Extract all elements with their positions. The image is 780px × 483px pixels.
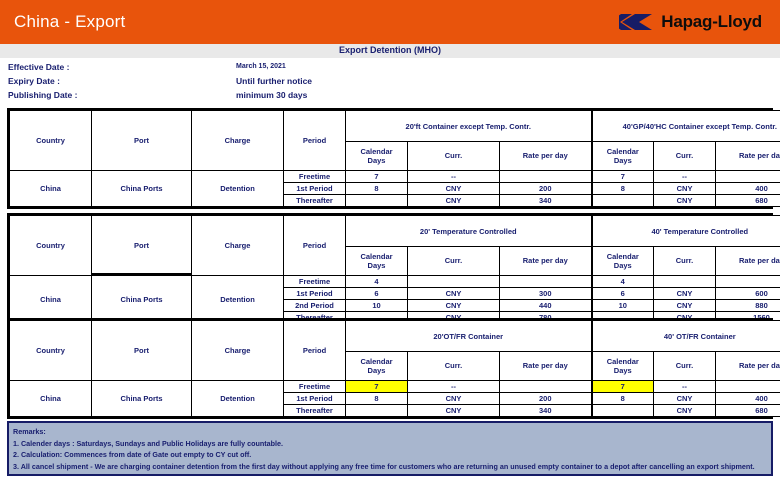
curr-cell-a: CNY: [408, 405, 500, 417]
calendar-days-header-a: CalendarDays: [346, 142, 408, 171]
country-cell: China: [10, 276, 92, 324]
period-header: Period: [284, 111, 346, 171]
curr-cell-a: CNY: [408, 195, 500, 207]
remark-item-3: 3. All cancel shipment - We are charging…: [13, 461, 767, 473]
calendar-days-cell-a: [346, 195, 408, 207]
container-group-a-header: 20'OT/FR Container: [346, 321, 592, 352]
calendar-days-cell-b: [592, 405, 654, 417]
calendar-days-header-b: CalendarDays: [592, 247, 654, 276]
remarks-heading: Remarks:: [13, 426, 767, 438]
curr-header-a: Curr.: [408, 142, 500, 171]
period-cell: Thereafter: [284, 405, 346, 417]
calendar-days-cell-a: 8: [346, 183, 408, 195]
rate-cell-b: 880: [716, 300, 780, 312]
calendar-days-cell-a: 10: [346, 300, 408, 312]
country-cell: China: [10, 171, 92, 207]
curr-cell-a: --: [408, 171, 500, 183]
curr-header-b: Curr.: [654, 142, 716, 171]
double-chevron-left-icon: [619, 13, 653, 31]
table-temperature-controlled: CountryPortChargePeriod20' Temperature C…: [7, 213, 773, 326]
container-group-b-header: 40'GP/40'HC Container except Temp. Contr…: [592, 111, 780, 142]
rate-cell-a: 200: [500, 393, 592, 405]
rate-cell-b: [716, 276, 780, 288]
port-cell: China Ports: [92, 381, 192, 417]
table-row: ChinaChina PortsDetentionFreetime7--7--: [10, 171, 780, 183]
remarks-box: Remarks: 1. Calender days : Saturdays, S…: [7, 421, 773, 476]
period-cell: 2nd Period: [284, 300, 346, 312]
dates-block: Effective Date : March 15, 2021 Expiry D…: [0, 60, 780, 102]
calendar-days-header-b: CalendarDays: [592, 352, 654, 381]
effective-date-value: March 15, 2021: [236, 60, 286, 74]
curr-cell-b: CNY: [654, 288, 716, 300]
container-group-b-header: 40' Temperature Controlled: [592, 216, 780, 247]
period-cell: 1st Period: [284, 393, 346, 405]
calendar-days-header-a: CalendarDays: [346, 352, 408, 381]
rate-per-day-header-b: Rate per day: [716, 142, 780, 171]
brand-header-bar: China - Export Hapag-Lloyd: [0, 0, 780, 44]
period-cell: Freetime: [284, 171, 346, 183]
effective-date-row: Effective Date : March 15, 2021: [0, 60, 780, 74]
container-group-a-header: 20' Temperature Controlled: [346, 216, 592, 247]
curr-cell-b: CNY: [654, 405, 716, 417]
period-cell: Thereafter: [284, 195, 346, 207]
calendar-days-cell-b: 4: [592, 276, 654, 288]
rate-per-day-header-b: Rate per day: [716, 352, 780, 381]
period-cell: 1st Period: [284, 183, 346, 195]
expiry-date-row: Expiry Date : Until further notice: [0, 74, 780, 88]
rate-per-day-header-a: Rate per day: [500, 352, 592, 381]
rate-cell-b: 680: [716, 405, 780, 417]
curr-cell-b: CNY: [654, 183, 716, 195]
table-header-row-top: CountryPortChargePeriod20' Temperature C…: [10, 216, 780, 247]
publishing-date-value: minimum 30 days: [236, 88, 307, 102]
expiry-date-label: Expiry Date :: [8, 74, 60, 88]
curr-header-a: Curr.: [408, 352, 500, 381]
rate-cell-a: [500, 171, 592, 183]
port-cell: China Ports: [92, 276, 192, 324]
calendar-days-header-b: CalendarDays: [592, 142, 654, 171]
curr-cell-b: CNY: [654, 300, 716, 312]
calendar-days-cell-b: 8: [592, 393, 654, 405]
port-cell: China Ports: [92, 171, 192, 207]
company-logo-text: Hapag-Lloyd: [661, 12, 762, 32]
curr-cell-a: [408, 276, 500, 288]
port-header: Port: [92, 111, 192, 171]
calendar-days-header-a: CalendarDays: [346, 247, 408, 276]
calendar-days-cell-b: 10: [592, 300, 654, 312]
table-standard-containers: CountryPortChargePeriod20'ft Container e…: [7, 108, 773, 209]
curr-cell-b: --: [654, 381, 716, 393]
rate-cell-a: 340: [500, 195, 592, 207]
calendar-days-cell-a: 4: [346, 276, 408, 288]
rate-cell-a: [500, 381, 592, 393]
calendar-days-cell-b: [592, 195, 654, 207]
period-header: Period: [284, 321, 346, 381]
curr-cell-b: CNY: [654, 195, 716, 207]
curr-cell-b: CNY: [654, 393, 716, 405]
remark-item-2: 2. Calculation: Commences from date of G…: [13, 449, 767, 461]
table-row: ChinaChina PortsDetentionFreetime44: [10, 276, 780, 288]
rate-per-day-header-a: Rate per day: [500, 142, 592, 171]
curr-cell-a: CNY: [408, 300, 500, 312]
country-cell: China: [10, 381, 92, 417]
period-cell: Freetime: [284, 276, 346, 288]
curr-cell-a: --: [408, 381, 500, 393]
publishing-date-label: Publishing Date :: [8, 88, 77, 102]
charge-header: Charge: [192, 321, 284, 381]
country-header: Country: [10, 321, 92, 381]
curr-cell-a: CNY: [408, 288, 500, 300]
rate-cell-b: 400: [716, 393, 780, 405]
document-page: China - Export Hapag-Lloyd Export Detent…: [0, 0, 780, 483]
period-cell: 1st Period: [284, 288, 346, 300]
rate-cell-b: [716, 171, 780, 183]
calendar-days-cell-b: 7: [592, 381, 654, 393]
table-row: ChinaChina PortsDetentionFreetime7--7--: [10, 381, 780, 393]
charge-header: Charge: [192, 216, 284, 276]
calendar-days-cell-b: 8: [592, 183, 654, 195]
curr-cell-b: [654, 276, 716, 288]
document-subtitle: Export Detention (MHO): [0, 45, 780, 55]
publishing-date-row: Publishing Date : minimum 30 days: [0, 88, 780, 102]
rate-cell-a: [500, 276, 592, 288]
curr-header-b: Curr.: [654, 247, 716, 276]
table-header-row-top: CountryPortChargePeriod20'ft Container e…: [10, 111, 780, 142]
period-header: Period: [284, 216, 346, 276]
expiry-date-value: Until further notice: [236, 74, 312, 88]
charge-cell: Detention: [192, 276, 284, 324]
calendar-days-cell-b: 7: [592, 171, 654, 183]
rate-cell-b: 600: [716, 288, 780, 300]
calendar-days-cell-b: 6: [592, 288, 654, 300]
remark-item-1: 1. Calender days : Saturdays, Sundays an…: [13, 438, 767, 450]
curr-cell-b: --: [654, 171, 716, 183]
country-header: Country: [10, 216, 92, 276]
period-cell: Freetime: [284, 381, 346, 393]
curr-header-a: Curr.: [408, 247, 500, 276]
calendar-days-cell-a: [346, 405, 408, 417]
curr-header-b: Curr.: [654, 352, 716, 381]
rate-cell-a: 300: [500, 288, 592, 300]
table-ot-fr-containers: CountryPortChargePeriod20'OT/FR Containe…: [7, 318, 773, 419]
page-title: China - Export: [0, 12, 125, 32]
rate-cell-b: 680: [716, 195, 780, 207]
container-group-b-header: 40' OT/FR Container: [592, 321, 780, 352]
rate-cell-a: 340: [500, 405, 592, 417]
calendar-days-cell-a: 6: [346, 288, 408, 300]
effective-date-label: Effective Date :: [8, 60, 69, 74]
container-group-a-header: 20'ft Container except Temp. Contr.: [346, 111, 592, 142]
table-header-row-top: CountryPortChargePeriod20'OT/FR Containe…: [10, 321, 780, 352]
port-header: Port: [92, 216, 192, 276]
curr-cell-a: CNY: [408, 183, 500, 195]
rate-cell-b: [716, 381, 780, 393]
rate-per-day-header-a: Rate per day: [500, 247, 592, 276]
port-header: Port: [92, 321, 192, 381]
charge-cell: Detention: [192, 171, 284, 207]
country-header: Country: [10, 111, 92, 171]
charge-cell: Detention: [192, 381, 284, 417]
company-logo: Hapag-Lloyd: [619, 12, 780, 32]
curr-cell-a: CNY: [408, 393, 500, 405]
calendar-days-cell-a: 8: [346, 393, 408, 405]
charge-header: Charge: [192, 111, 284, 171]
rate-cell-b: 400: [716, 183, 780, 195]
rate-cell-a: 440: [500, 300, 592, 312]
rate-cell-a: 200: [500, 183, 592, 195]
calendar-days-cell-a: 7: [346, 171, 408, 183]
rate-per-day-header-b: Rate per day: [716, 247, 780, 276]
calendar-days-cell-a: 7: [346, 381, 408, 393]
